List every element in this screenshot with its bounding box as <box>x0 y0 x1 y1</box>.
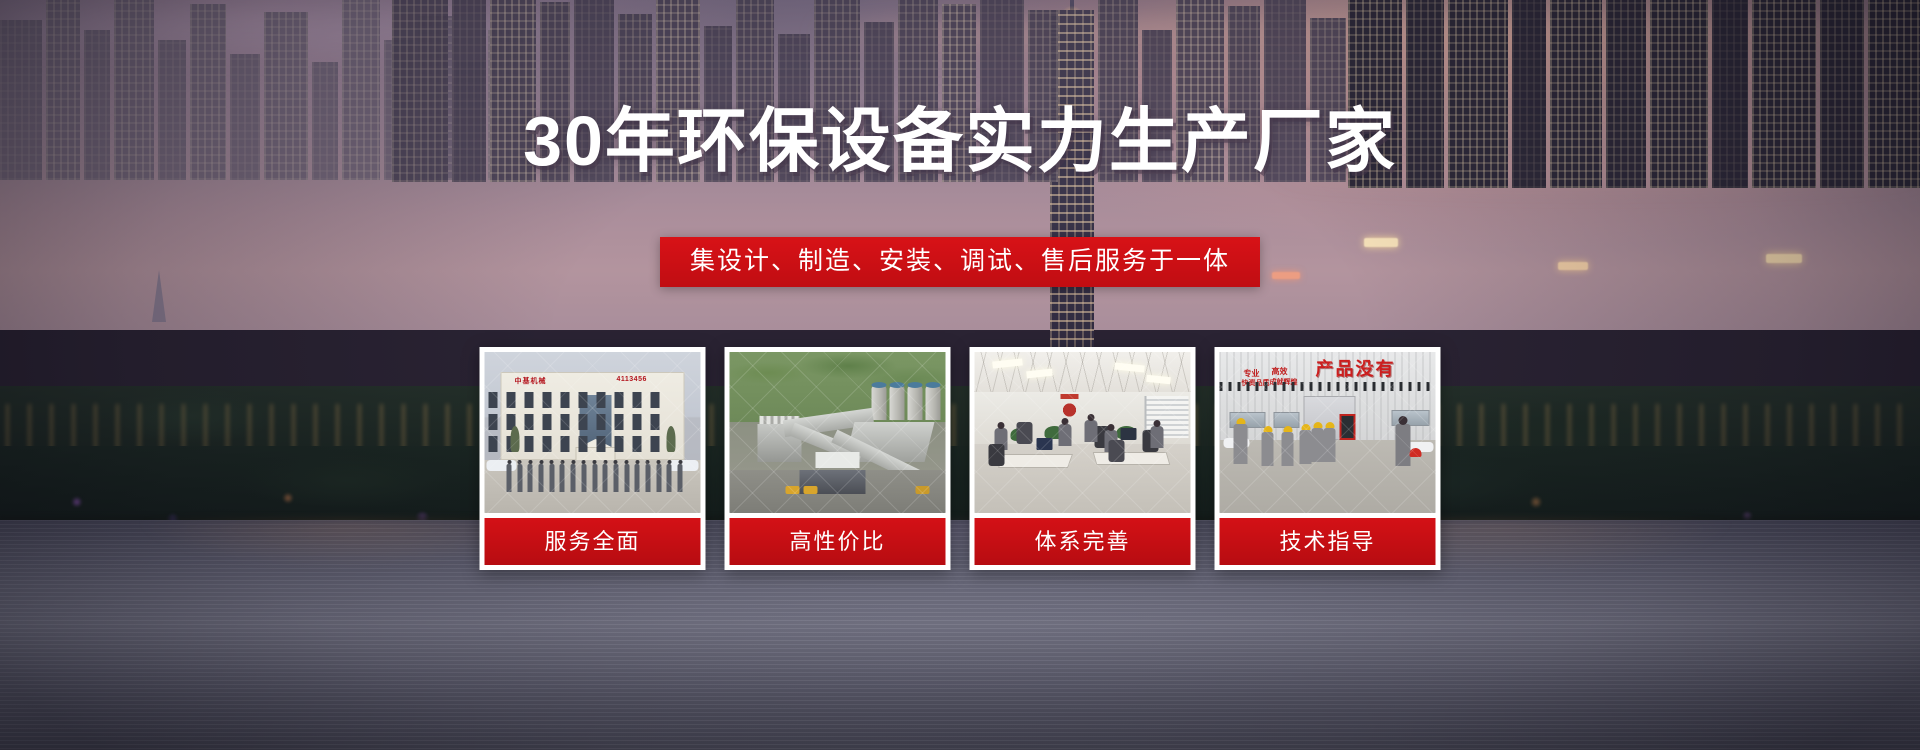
window-row <box>489 392 665 408</box>
computer-monitor <box>1037 438 1053 450</box>
heavy-machinery <box>786 486 800 494</box>
storage-silo <box>908 386 923 420</box>
office-worker <box>1151 426 1164 448</box>
office-desk <box>1093 452 1171 465</box>
factory-slogan-text: 高效 <box>1272 366 1288 377</box>
worker-with-hardhat <box>1234 424 1248 464</box>
tree <box>667 426 676 452</box>
subtitle-banner: 集设计、制造、安装、调试、售后服务于一体 <box>660 237 1260 287</box>
storage-silo <box>872 386 887 420</box>
plant-building <box>816 452 860 468</box>
worker-with-hardhat <box>1300 430 1312 464</box>
card-label: 体系完善 <box>975 518 1191 565</box>
storage-silo <box>890 386 905 420</box>
office-worker <box>1085 420 1098 442</box>
heavy-machinery <box>804 486 818 494</box>
feature-card[interactable]: 专业 快资品质 高效 成就辉煌 产品没有 <box>1215 347 1441 570</box>
worker-with-hardhat <box>1312 428 1324 462</box>
feature-card[interactable]: 高性价比 <box>725 347 951 570</box>
computer-monitor <box>1121 428 1137 440</box>
card-photo-office <box>975 352 1191 513</box>
worker-with-hardhat <box>1282 432 1294 466</box>
card-photo-plant-aerial <box>730 352 946 513</box>
office-worker <box>1059 424 1072 446</box>
hero-banner: 30年环保设备实力生产厂家 集设计、制造、安装、调试、售后服务于一体 中基机械 … <box>0 0 1920 750</box>
feature-card[interactable]: 中基机械 4113456 <box>480 347 706 570</box>
office-chair <box>1017 422 1033 444</box>
wall-logo-decal <box>1059 398 1081 418</box>
worker-with-hardhat <box>1262 432 1274 466</box>
card-label: 技术指导 <box>1220 518 1436 565</box>
supervisor <box>1396 424 1411 466</box>
company-phone-text: 4113456 <box>617 376 647 383</box>
feature-card-list: 中基机械 4113456 <box>480 347 1441 570</box>
worker-with-hardhat <box>1324 428 1336 462</box>
heavy-machinery <box>916 486 930 494</box>
staff-lineup <box>507 464 683 494</box>
office-chair <box>1109 440 1125 462</box>
factory-banner-text: 产品没有 <box>1316 355 1396 381</box>
feature-card[interactable]: 体系完善 <box>970 347 1196 570</box>
storage-silo <box>926 386 941 420</box>
page-title: 30年环保设备实力生产厂家 <box>0 104 1920 178</box>
card-label: 高性价比 <box>730 518 946 565</box>
factory-side-door <box>1340 414 1356 440</box>
card-photo-workers: 专业 快资品质 高效 成就辉煌 产品没有 <box>1220 352 1436 513</box>
tree <box>511 426 520 452</box>
office-ceiling <box>975 352 1191 394</box>
facade-railing <box>1220 382 1436 391</box>
card-photo-headquarters: 中基机械 4113456 <box>485 352 701 513</box>
company-sign-text: 中基机械 <box>515 376 547 386</box>
card-label: 服务全面 <box>485 518 701 565</box>
office-chair <box>989 444 1005 466</box>
office-desk <box>998 454 1073 468</box>
red-helmet <box>1410 448 1422 457</box>
